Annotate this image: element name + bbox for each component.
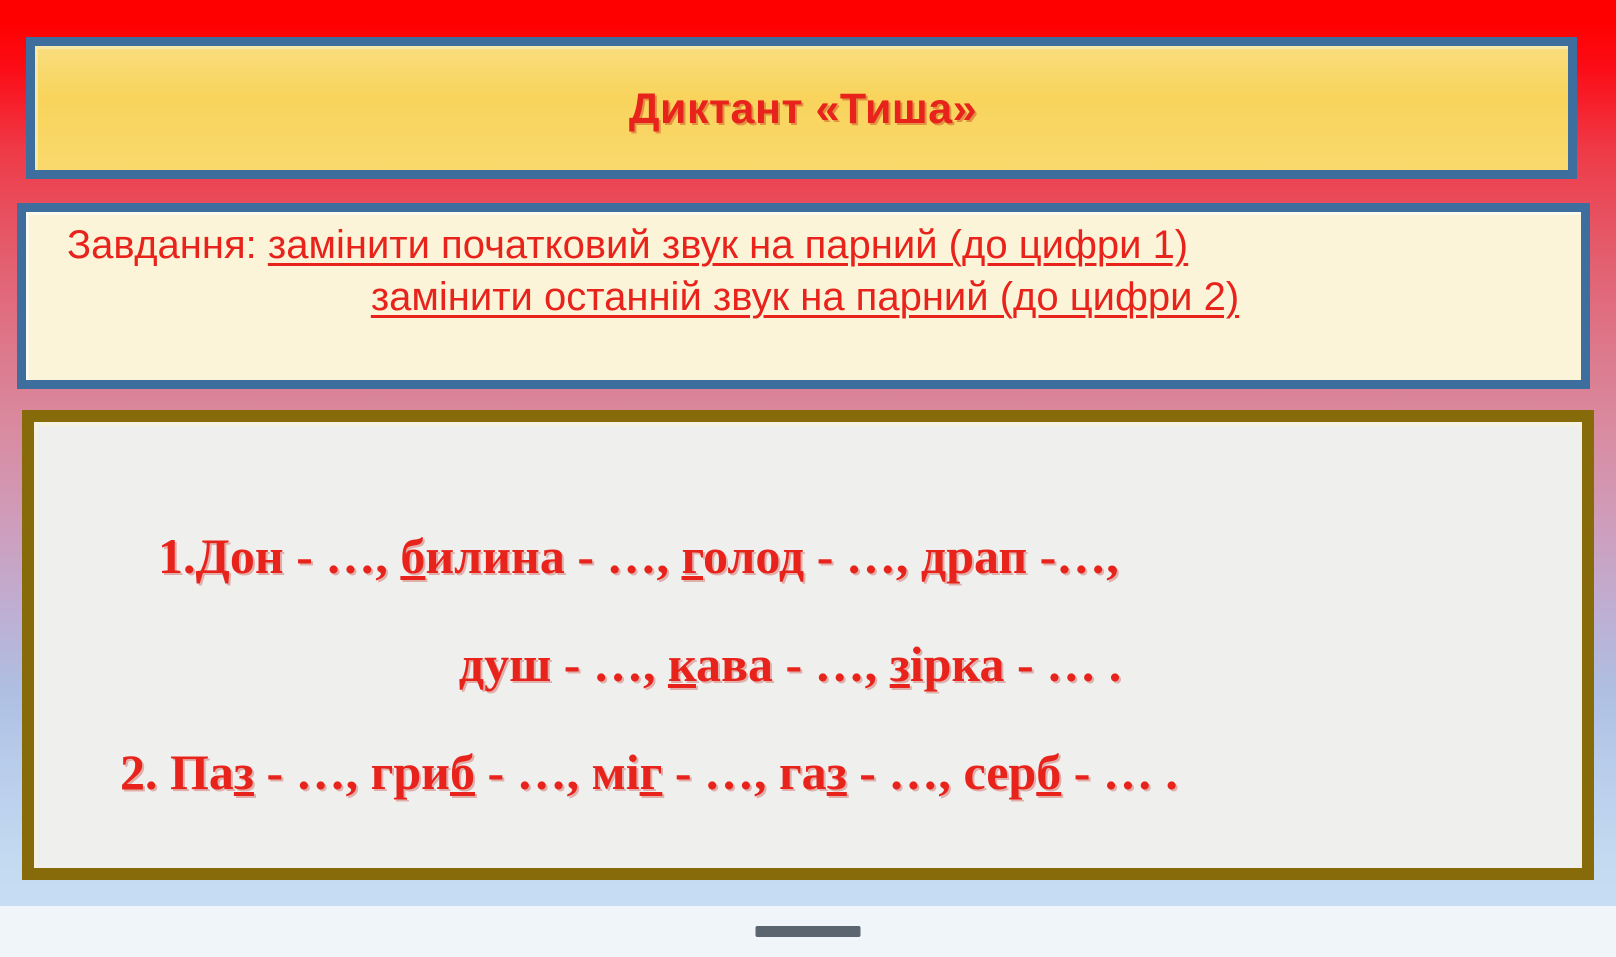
word-drap-marked: д <box>921 528 946 584</box>
word-bylyna-rest: илина <box>425 528 564 584</box>
word-zirka-rest: ірка <box>910 636 1005 692</box>
content-box-inner: 1.Дон - …, билина - …, голод - …, драп -… <box>34 422 1582 868</box>
instruction-rule-1: замінити початковий звук на парний (до ц… <box>268 223 1188 267</box>
separator-10: - …, <box>662 744 779 800</box>
word-hryb-rest: гри <box>371 744 450 800</box>
word-drap-rest: рап <box>946 528 1027 584</box>
exercise-2-number: 2. <box>120 744 170 800</box>
separator-4: -…, <box>1027 528 1119 584</box>
exercise-1-number: 1. <box>158 528 196 584</box>
exercise-1-line-a: 1.Дон - …, билина - …, голод - …, драп -… <box>38 502 1582 610</box>
word-hryb-marked: б <box>450 744 475 800</box>
word-zirka-marked: з <box>890 636 910 692</box>
home-indicator[interactable] <box>756 926 861 937</box>
slide-canvas: Диктант «Тиша» Завдання: замінити початк… <box>0 0 1616 906</box>
word-paz-rest: Па <box>170 744 234 800</box>
instruction-box: Завдання: замінити початковий звук на па… <box>17 203 1590 389</box>
word-dush-marked: д <box>459 636 484 692</box>
word-mih-marked: г <box>640 744 663 800</box>
instruction-line-2: замінити останній звук на парний (до циф… <box>29 271 1581 323</box>
instruction-box-inner: Завдання: замінити початковий звук на па… <box>26 212 1581 380</box>
word-don-marked: Д <box>196 528 230 584</box>
slide-root: Диктант «Тиша» Завдання: замінити початк… <box>0 0 1616 957</box>
separator-5: - …, <box>551 636 668 692</box>
separator-1: - …, <box>284 528 401 584</box>
word-mih-rest: мі <box>592 744 640 800</box>
system-bar <box>0 906 1616 957</box>
exercise-1-line-b: душ - …, кава - …, зірка - … . <box>38 610 1582 718</box>
separator-11: - …, <box>847 744 964 800</box>
separator-2: - …, <box>565 528 682 584</box>
title-box-inner: Диктант «Тиша» <box>35 46 1568 170</box>
page-title: Диктант «Тиша» <box>629 85 977 134</box>
instruction-label: Завдання: <box>67 223 257 267</box>
word-serb-rest: сер <box>963 744 1036 800</box>
word-kava-rest: ава <box>696 636 773 692</box>
word-paz-marked: з <box>234 744 254 800</box>
word-kava-marked: к <box>668 636 696 692</box>
title-box: Диктант «Тиша» <box>26 37 1577 179</box>
word-haz-rest: га <box>779 744 827 800</box>
word-holod-rest: олод <box>703 528 804 584</box>
separator-7: - … . <box>1005 636 1122 692</box>
word-holod-marked: г <box>682 528 703 584</box>
exercise-2-line: 2. Паз - …, гриб - …, міг - …, газ - …, … <box>38 718 1582 826</box>
word-serb-marked: б <box>1036 744 1061 800</box>
separator-12: - … . <box>1061 744 1178 800</box>
instruction-rule-2: замінити останній звук на парний (до циф… <box>371 275 1239 319</box>
instruction-line-1: Завдання: замінити початковий звук на па… <box>29 219 1581 271</box>
separator-9: - …, <box>475 744 592 800</box>
separator-3: - …, <box>804 528 921 584</box>
word-bylyna-marked: б <box>400 528 425 584</box>
exercise-list: 1.Дон - …, билина - …, голод - …, драп -… <box>38 502 1582 826</box>
content-box: 1.Дон - …, билина - …, голод - …, драп -… <box>22 410 1594 880</box>
separator-6: - …, <box>773 636 890 692</box>
word-don-rest: он <box>230 528 284 584</box>
word-dush-rest: уш <box>484 636 551 692</box>
word-haz-marked: з <box>827 744 847 800</box>
separator-8: - …, <box>254 744 371 800</box>
